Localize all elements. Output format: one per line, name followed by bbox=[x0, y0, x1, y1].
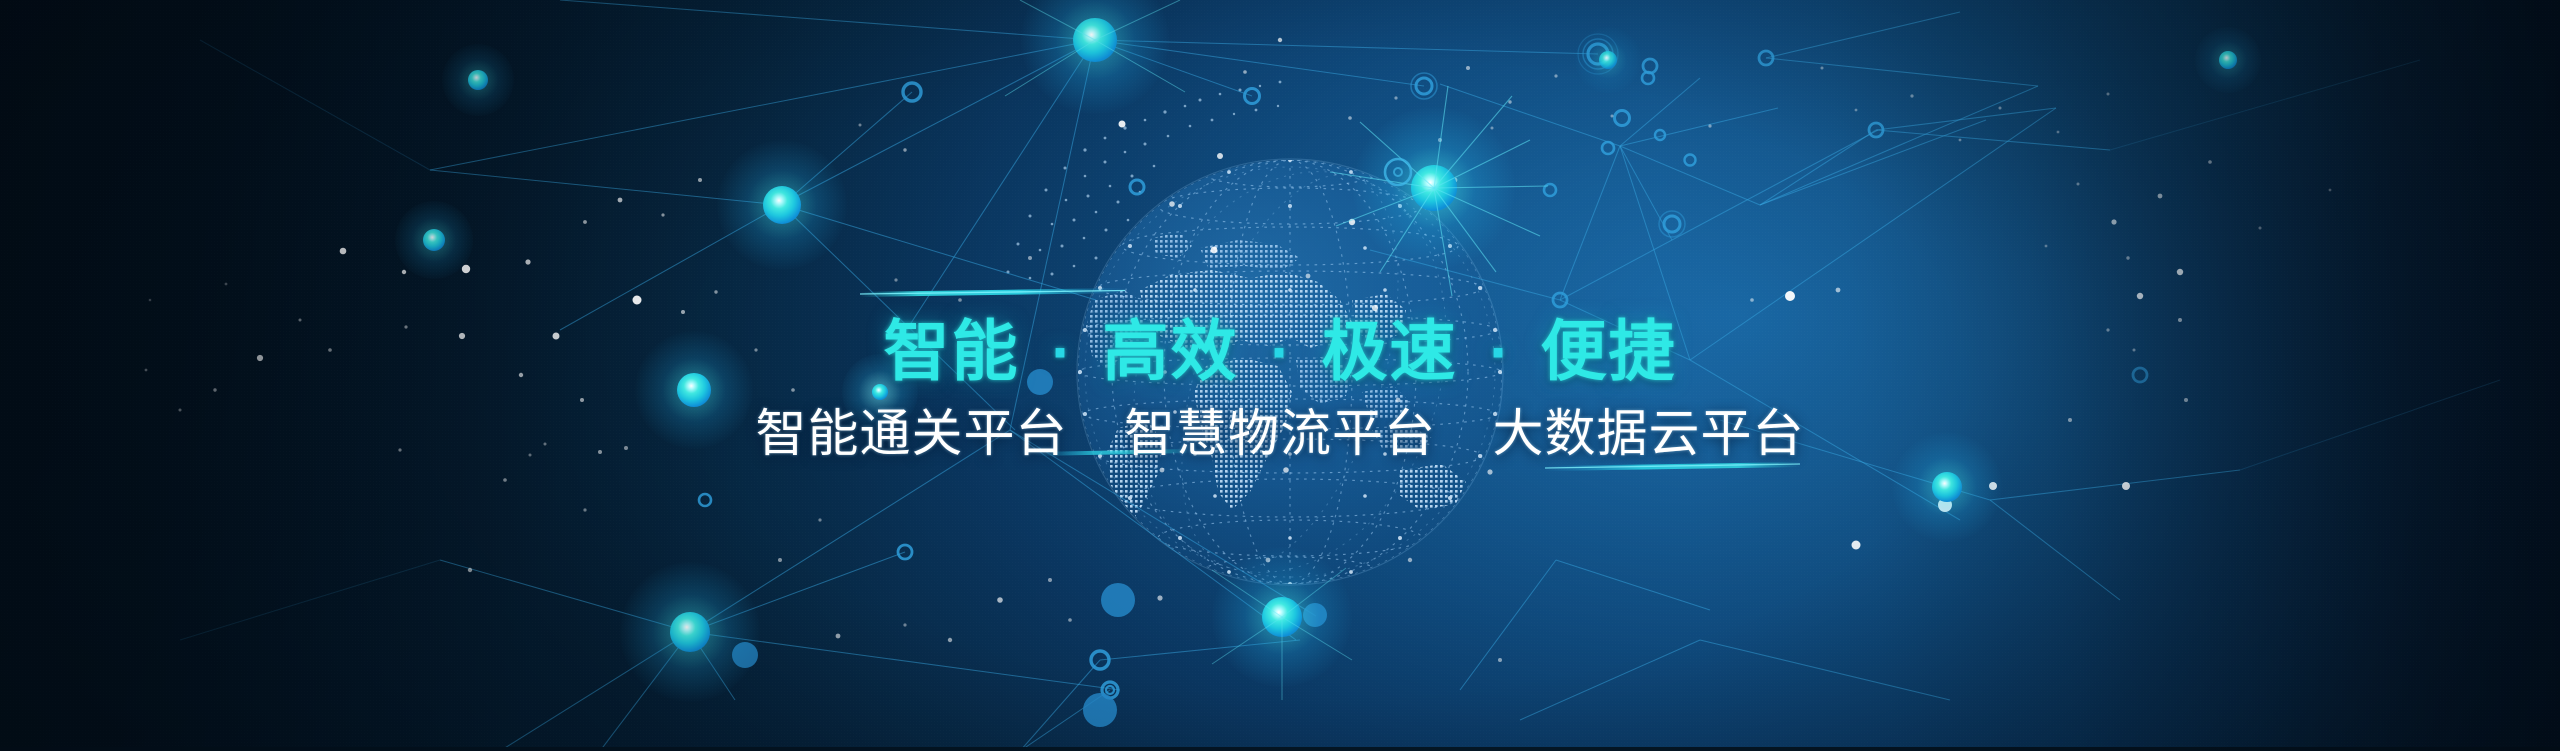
hero-banner: 智能 · 高效 · 极速 · 便捷 智能通关平台 智慧物流平台 大数据云平台 bbox=[0, 0, 2560, 751]
bottom-edge-bar bbox=[0, 747, 2560, 751]
background-vignette bbox=[0, 0, 2560, 751]
